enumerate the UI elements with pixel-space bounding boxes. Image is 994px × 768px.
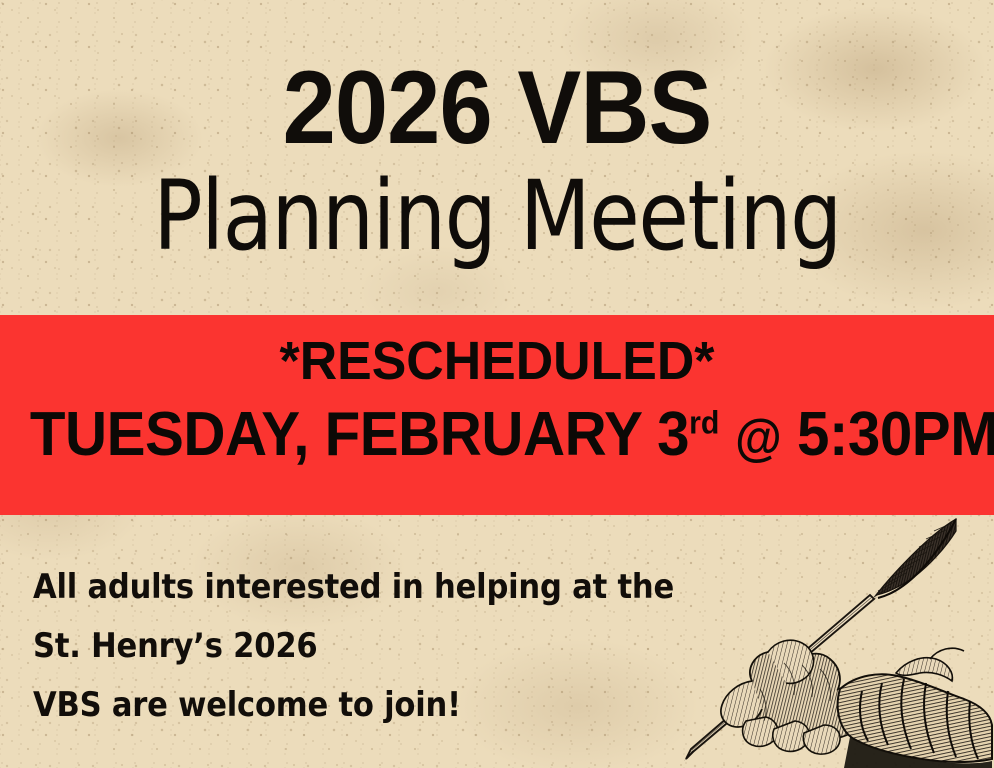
meeting-date-text: TUESDAY, FEBRUARY 3: [30, 400, 689, 469]
rescheduled-notice: *RESCHEDULED*: [20, 315, 974, 390]
invitation-line-1: All adults interested in helping at the: [33, 558, 763, 617]
page-subtitle-planning-meeting: Planning Meeting: [25, 160, 969, 264]
rescheduled-banner: *RESCHEDULED* TUESDAY, FEBRUARY 3rd @ 5:…: [0, 315, 994, 515]
quill-feather: [860, 519, 956, 608]
invitation-line-3: VBS are welcome to join!: [33, 676, 763, 735]
invitation-text: All adults interested in helping at the …: [33, 558, 763, 735]
headline-block: 2026 VBS Planning Meeting: [0, 0, 994, 264]
vbs-planning-meeting-poster: 2026 VBS Planning Meeting *RESCHEDULED* …: [0, 0, 994, 768]
meeting-datetime: TUESDAY, FEBRUARY 3rd @ 5:30PM: [30, 390, 964, 467]
page-title-year-vbs: 2026 VBS: [40, 0, 954, 160]
date-ordinal-suffix: rd: [689, 404, 719, 440]
ruffled-cuff: [838, 648, 992, 768]
invitation-line-2: St. Henry’s 2026: [33, 617, 763, 676]
at-symbol: @: [735, 409, 781, 466]
meeting-time-text: 5:30PM: [797, 400, 994, 469]
